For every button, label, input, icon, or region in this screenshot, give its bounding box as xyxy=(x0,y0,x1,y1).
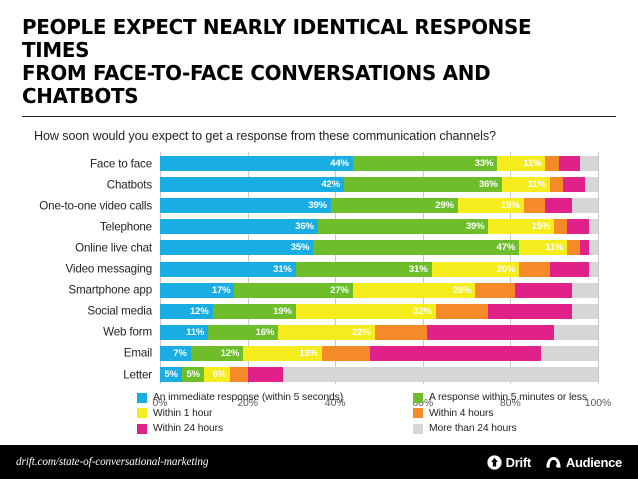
bar-segment: 31% xyxy=(160,262,296,277)
category-label: Social media xyxy=(87,305,152,318)
bar-segment-value: 31% xyxy=(273,264,296,275)
bar-segment xyxy=(585,177,598,192)
bar-segment-value: 11% xyxy=(523,158,545,169)
bar-segment-value: 22% xyxy=(352,327,375,338)
stacked-bar: 17%27%28% xyxy=(160,283,598,298)
bar-segment: 5% xyxy=(182,367,204,382)
bar-segment xyxy=(248,367,283,382)
bar-segment-value: 36% xyxy=(479,179,502,190)
bar-segment-value: 12% xyxy=(190,306,213,317)
bar-segment xyxy=(370,346,541,361)
bar-segment: 22% xyxy=(278,325,374,340)
legend-label: A response within 5 minutes or less xyxy=(429,392,587,403)
bar-segment xyxy=(230,367,248,382)
bar-segment-value: 20% xyxy=(497,264,520,275)
bar-segment xyxy=(550,177,563,192)
chart-row: Letter5%5%6% xyxy=(160,367,598,382)
drift-mark-icon xyxy=(487,455,502,470)
bar-segment xyxy=(572,283,598,298)
bar-segment xyxy=(567,219,589,234)
bar-segment: 28% xyxy=(353,283,476,298)
bar-segment: 39% xyxy=(160,198,331,213)
bar-segment xyxy=(589,219,598,234)
legend-swatch xyxy=(137,393,147,403)
bar-segment xyxy=(550,262,589,277)
bar-segment: 27% xyxy=(234,283,352,298)
audience-logo: Audience xyxy=(545,455,622,470)
bar-segment: 15% xyxy=(488,219,554,234)
bar-segment-value: 17% xyxy=(212,285,235,296)
bar-segment: 16% xyxy=(208,325,278,340)
bar-segment xyxy=(580,240,589,255)
bar-segment xyxy=(515,283,572,298)
bar-segment-value: 31% xyxy=(409,264,432,275)
bar-segment-value: 44% xyxy=(330,158,353,169)
bar-segment xyxy=(545,156,558,171)
stacked-bar-chart: Face to face44%33%11%Chatbots42%36%11%On… xyxy=(22,152,616,414)
chart-legend: An immediate response (within 5 seconds)… xyxy=(137,390,607,437)
category-label: Chatbots xyxy=(107,178,152,191)
stacked-bar: 11%16%22% xyxy=(160,325,598,340)
legend-item: Within 4 hours xyxy=(413,406,607,422)
footer-url: drift.com/state-of-conversational-market… xyxy=(16,456,208,468)
chart-row: Social media12%19%32% xyxy=(160,304,598,319)
bar-segment: 35% xyxy=(160,240,313,255)
bar-segment: 19% xyxy=(213,304,296,319)
bar-segment xyxy=(554,219,567,234)
category-label: Telephone xyxy=(100,220,152,233)
drift-logo: Drift xyxy=(487,455,531,470)
bar-segment: 12% xyxy=(160,304,213,319)
bar-segment-value: 29% xyxy=(435,200,458,211)
bar-segment-value: 5% xyxy=(186,369,203,380)
chart-subtitle: How soon would you expect to get a respo… xyxy=(34,129,616,143)
bar-segment xyxy=(554,325,598,340)
category-label: Smartphone app xyxy=(68,284,152,297)
stacked-bar: 36%39%15% xyxy=(160,219,598,234)
stacked-bar: 35%47%11% xyxy=(160,240,598,255)
bar-segment xyxy=(427,325,554,340)
chart-row: Online live chat35%47%11% xyxy=(160,240,598,255)
chart-row: Web form11%16%22% xyxy=(160,325,598,340)
bar-segment-value: 6% xyxy=(213,369,230,380)
category-label: Video messaging xyxy=(66,263,152,276)
bar-segment-value: 11% xyxy=(528,179,550,190)
bar-segment: 11% xyxy=(160,325,208,340)
bar-segment: 29% xyxy=(331,198,458,213)
bar-segment-value: 18% xyxy=(299,348,322,359)
legend-item: An immediate response (within 5 seconds) xyxy=(137,390,413,406)
bar-segment: 17% xyxy=(160,283,234,298)
bar-segment: 11% xyxy=(519,240,567,255)
bar-segment: 18% xyxy=(243,346,322,361)
chart-row: Chatbots42%36%11% xyxy=(160,177,598,192)
bar-segment xyxy=(375,325,428,340)
bar-segment-value: 7% xyxy=(173,348,190,359)
bar-segment: 42% xyxy=(160,177,344,192)
audience-logo-text: Audience xyxy=(566,455,622,470)
bar-segment: 32% xyxy=(296,304,436,319)
chart-row: Video messaging31%31%20% xyxy=(160,262,598,277)
category-label: Web form xyxy=(103,326,152,339)
legend-swatch xyxy=(413,424,423,434)
bar-segment xyxy=(563,177,585,192)
bar-segment: 47% xyxy=(313,240,519,255)
stacked-bar: 31%31%20% xyxy=(160,262,598,277)
stacked-bar: 5%5%6% xyxy=(160,367,598,382)
footer-logos: Drift Audience xyxy=(487,455,622,470)
bar-segment: 44% xyxy=(160,156,353,171)
legend-label: Within 4 hours xyxy=(429,408,493,419)
legend-item: Within 24 hours xyxy=(137,421,413,437)
bar-segment-value: 42% xyxy=(321,179,344,190)
gridline xyxy=(598,152,599,384)
legend-swatch xyxy=(137,424,147,434)
bar-segment: 5% xyxy=(160,367,182,382)
drift-logo-text: Drift xyxy=(506,455,531,470)
chart-row: One-to-one video calls39%29%15% xyxy=(160,198,598,213)
chart-row: Email7%12%18% xyxy=(160,346,598,361)
legend-swatch xyxy=(413,408,423,418)
legend-label: Within 24 hours xyxy=(153,423,223,434)
legend-item: A response within 5 minutes or less xyxy=(413,390,607,406)
bar-segment-value: 27% xyxy=(330,285,353,296)
chart-row: Smartphone app17%27%28% xyxy=(160,283,598,298)
legend-label: More than 24 hours xyxy=(429,423,517,434)
stacked-bar: 44%33%11% xyxy=(160,156,598,171)
bar-segment xyxy=(475,283,514,298)
plot-area: Face to face44%33%11%Chatbots42%36%11%On… xyxy=(160,152,598,395)
bar-segment xyxy=(524,198,546,213)
bar-segment: 33% xyxy=(353,156,498,171)
legend-swatch xyxy=(413,393,423,403)
bar-segment xyxy=(572,304,598,319)
bar-segment-value: 39% xyxy=(466,221,489,232)
bar-segment: 12% xyxy=(191,346,244,361)
title-divider xyxy=(22,116,616,117)
bar-segment xyxy=(545,198,571,213)
bar-segment-value: 35% xyxy=(291,242,314,253)
bar-segment-value: 11% xyxy=(545,242,567,253)
bar-segment-value: 16% xyxy=(256,327,279,338)
bar-segment: 11% xyxy=(502,177,550,192)
bar-segment xyxy=(559,156,581,171)
bar-segment xyxy=(589,240,598,255)
bar-segment-value: 12% xyxy=(221,348,244,359)
category-label: One-to-one video calls xyxy=(39,199,152,212)
category-label: Email xyxy=(124,347,152,360)
bar-segment-value: 15% xyxy=(532,221,555,232)
stacked-bar: 12%19%32% xyxy=(160,304,598,319)
chart-row: Telephone36%39%15% xyxy=(160,219,598,234)
bar-segment: 36% xyxy=(160,219,318,234)
stacked-bar: 7%12%18% xyxy=(160,346,598,361)
bar-segment xyxy=(567,240,580,255)
category-label: Letter xyxy=(123,368,152,381)
bar-segment-value: 5% xyxy=(164,369,181,380)
legend-label: An immediate response (within 5 seconds) xyxy=(153,392,343,403)
bar-segment xyxy=(283,367,598,382)
bar-segment xyxy=(589,262,598,277)
bar-segment: 11% xyxy=(497,156,545,171)
bar-segment xyxy=(322,346,370,361)
bar-segment xyxy=(488,304,571,319)
legend-label: Within 1 hour xyxy=(153,408,212,419)
bar-segment: 7% xyxy=(160,346,191,361)
legend-swatch xyxy=(137,408,147,418)
bar-segment xyxy=(436,304,489,319)
bar-segment-value: 32% xyxy=(413,306,436,317)
category-label: Online live chat xyxy=(75,241,152,254)
bar-segment-value: 19% xyxy=(273,306,296,317)
bar-segment-value: 11% xyxy=(186,327,208,338)
bar-segment: 39% xyxy=(318,219,489,234)
page-title: PEOPLE EXPECT NEARLY IDENTICAL RESPONSE … xyxy=(22,16,598,108)
bar-segment xyxy=(580,156,598,171)
legend-item: Within 1 hour xyxy=(137,406,413,422)
bar-segment-value: 47% xyxy=(497,242,520,253)
footer-bar: drift.com/state-of-conversational-market… xyxy=(0,445,638,479)
category-label: Face to face xyxy=(90,157,152,170)
bar-segment-value: 33% xyxy=(475,158,498,169)
bar-segment-value: 39% xyxy=(308,200,331,211)
audience-mark-icon xyxy=(545,455,562,469)
bar-segment xyxy=(541,346,598,361)
header: PEOPLE EXPECT NEARLY IDENTICAL RESPONSE … xyxy=(0,0,638,143)
legend-item: More than 24 hours xyxy=(413,421,607,437)
bar-segment: 15% xyxy=(458,198,524,213)
bar-segment: 31% xyxy=(296,262,432,277)
bar-segment xyxy=(572,198,598,213)
bar-segment: 6% xyxy=(204,367,230,382)
bar-segment: 20% xyxy=(432,262,520,277)
stacked-bar: 42%36%11% xyxy=(160,177,598,192)
bar-segment-value: 36% xyxy=(295,221,318,232)
bar-segment-value: 15% xyxy=(501,200,524,211)
chart-row: Face to face44%33%11% xyxy=(160,156,598,171)
bar-segment: 36% xyxy=(344,177,502,192)
bar-segment xyxy=(519,262,550,277)
bar-segment-value: 28% xyxy=(453,285,476,296)
stacked-bar: 39%29%15% xyxy=(160,198,598,213)
